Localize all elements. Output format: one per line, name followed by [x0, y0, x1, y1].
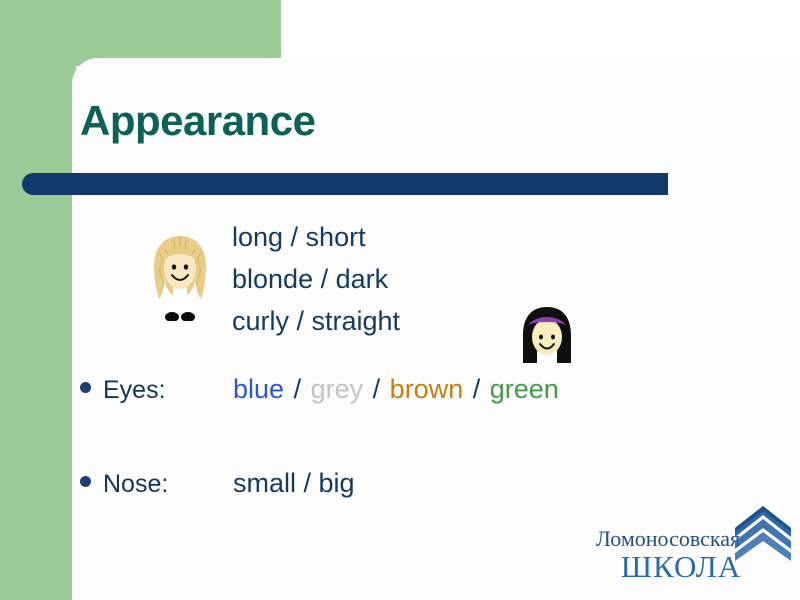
eye-color-blue: blue [233, 374, 284, 404]
eye-color-grey: grey [311, 374, 364, 404]
bullet-icon [80, 476, 91, 487]
dark-straight-girl-icon [515, 305, 579, 367]
nose-label: Nose: [103, 470, 233, 499]
eyes-label: Eyes: [103, 376, 233, 405]
list-item-eyes: Eyes: blue / grey / brown / green [80, 374, 559, 405]
separator-3: / [471, 374, 483, 404]
nose-options: small / big [233, 468, 355, 499]
list-item-nose: Nose: small / big [80, 468, 355, 499]
hair-option-color: blonde / dark [232, 258, 400, 300]
blonde-curly-girl-icon [147, 233, 213, 321]
eye-color-brown: brown [390, 374, 464, 404]
logo-line-2: ШКОЛА [588, 551, 748, 582]
slide-canvas: Appearance long / short blonde / dark cu… [0, 0, 800, 600]
green-top-block [0, 0, 281, 66]
school-logo: Ломоносовская ШКОЛА [588, 506, 793, 588]
eyes-options: blue / grey / brown / green [233, 374, 559, 405]
separator-1: / [292, 374, 304, 404]
logo-wordmark: Ломоносовская ШКОЛА [588, 528, 748, 582]
hair-option-length: long / short [232, 216, 400, 258]
separator-2: / [371, 374, 383, 404]
eye-color-green: green [490, 374, 559, 404]
bullet-icon [80, 382, 91, 393]
hair-option-texture: curly / straight [232, 300, 400, 342]
page-title: Appearance [80, 98, 315, 144]
chevron-roof-icon [733, 506, 793, 564]
logo-line-1: Ломоносовская [588, 528, 748, 550]
hair-options-list: long / short blonde / dark curly / strai… [232, 216, 400, 342]
title-accent-bar [22, 173, 668, 195]
green-left-band [0, 0, 76, 600]
